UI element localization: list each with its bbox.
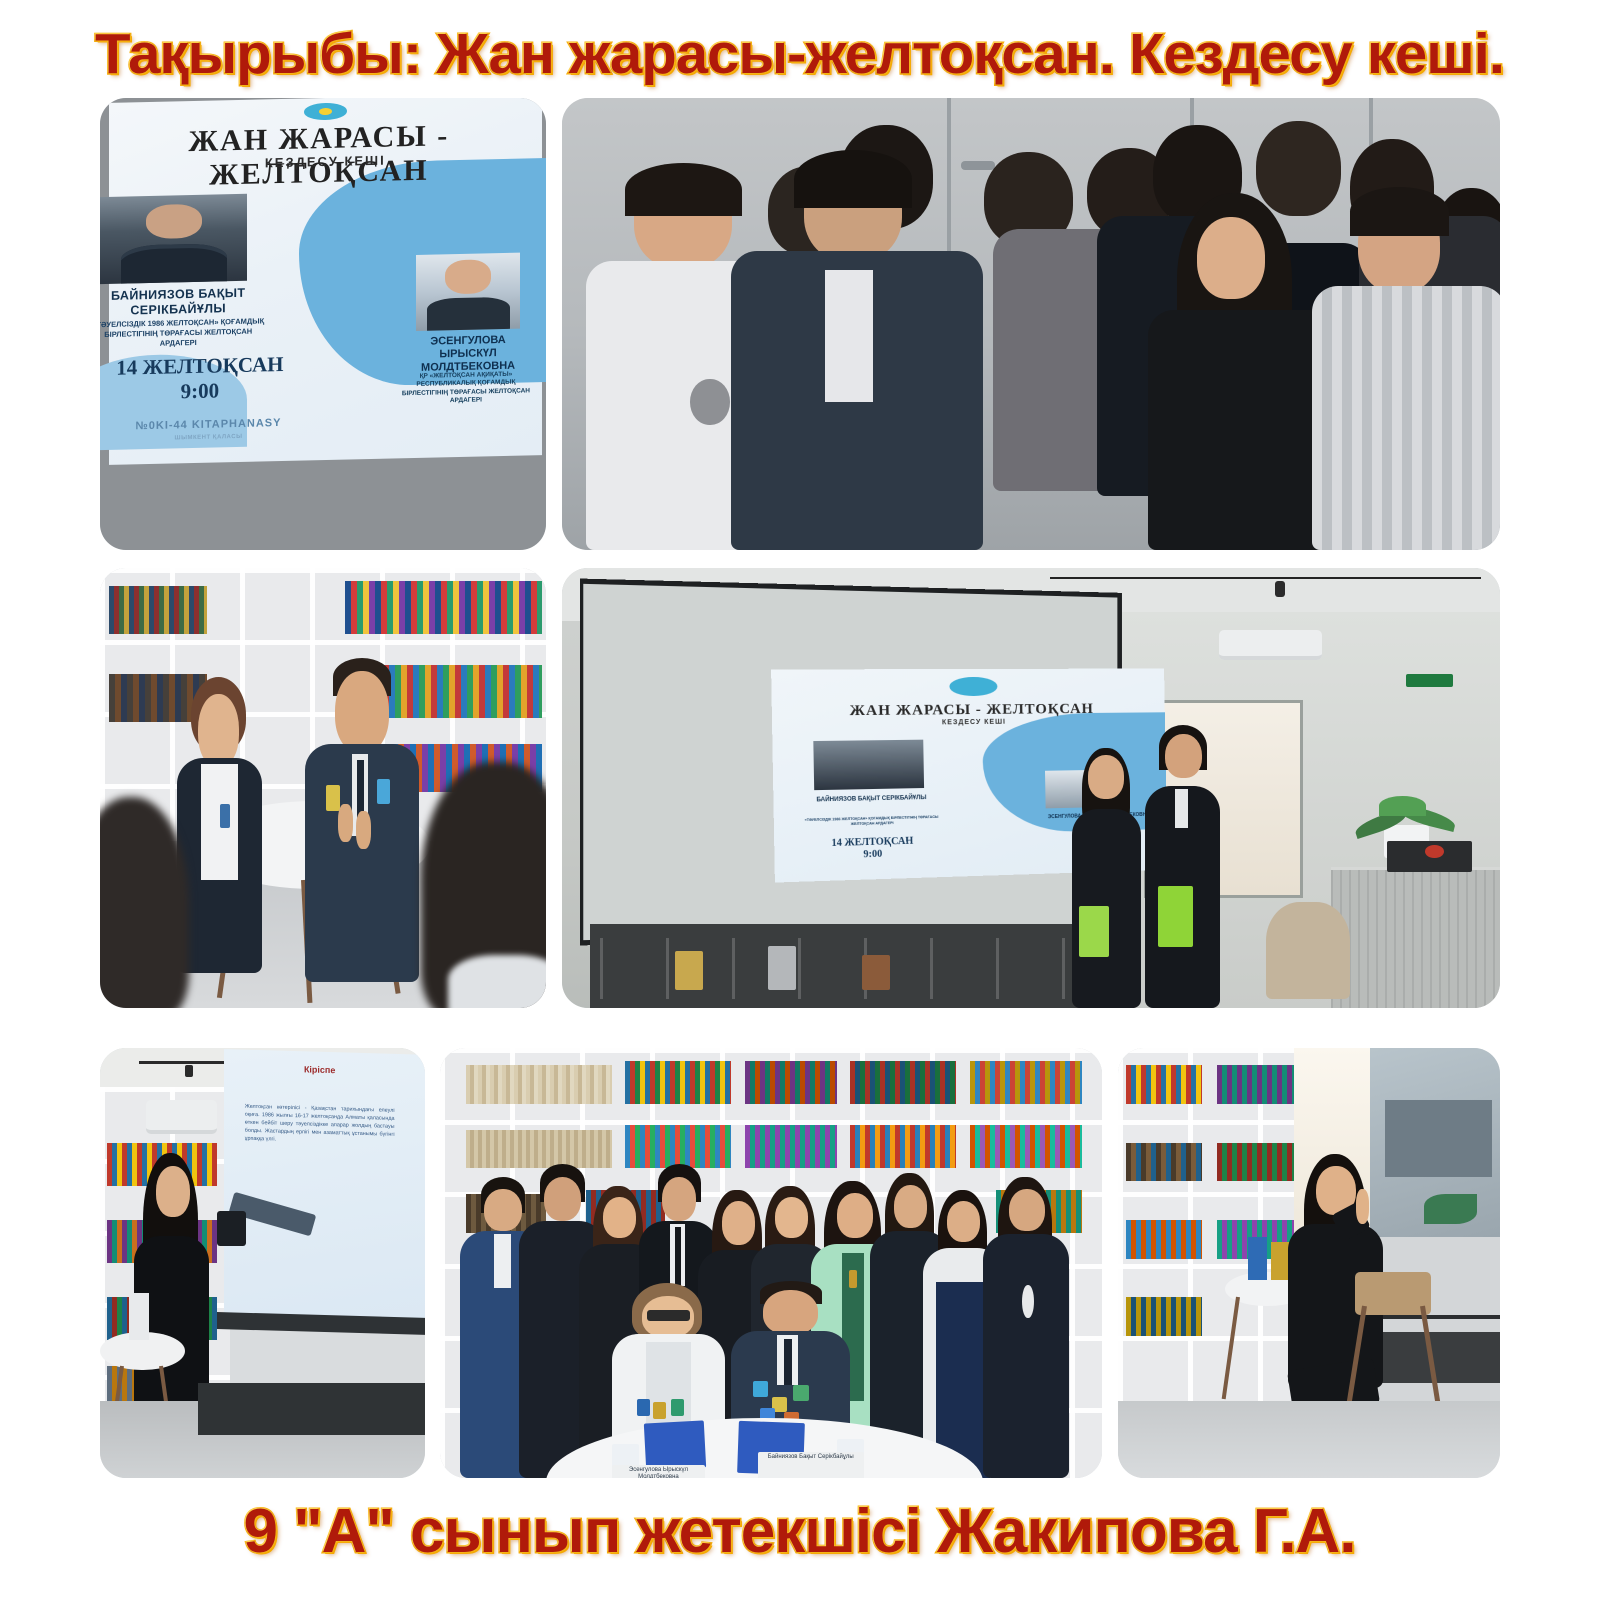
photo-presenter-at-screen: Кіріспе Желтоқсан көтерілісі - Қазақстан… bbox=[100, 1048, 425, 1478]
green-folder-icon bbox=[1079, 906, 1109, 957]
photo-speakers-at-table bbox=[100, 568, 546, 1008]
green-folder-icon bbox=[1158, 886, 1193, 947]
air-conditioner-icon bbox=[146, 1100, 218, 1134]
poster-speaker-left-name: БАЙНИЯЗОВ БАҚЫТ СЕРІКБАЙҰЛЫ bbox=[100, 285, 269, 319]
slide-heading: Кіріспе bbox=[244, 1063, 394, 1077]
poster-event-date: 14 ЖЕЛТОҚСАН 9:00 bbox=[100, 352, 299, 407]
photo-event-poster-slide: ЖАН ЖАРАСЫ - ЖЕЛТОҚСАН КЕЗДЕСУ КЕШІ БАЙН… bbox=[100, 98, 546, 550]
host-female bbox=[1069, 753, 1144, 1008]
photo-collage-poster: Тақырыбы: Жан жарасы-желтоқсан. Кездесу … bbox=[0, 0, 1599, 1599]
host-male bbox=[1144, 731, 1224, 1008]
poster-speaker-left-desc: «ТӘУЕЛСІЗДІК 1986 ЖЕЛТОҚСАН» ҚОҒАМДЫҚ БІ… bbox=[100, 316, 269, 350]
projected-slide-date: 14 ЖЕЛТОҚСАН9:00 bbox=[790, 835, 952, 864]
nameplate-right: Байниязов Бақыт Серікбайұлы bbox=[758, 1452, 864, 1478]
poster-speaker-right-portrait bbox=[416, 253, 520, 331]
projected-slide-speaker-left-desc: «ТӘУЕЛСІЗДІК 1986 ЖЕЛТОҚСАН» ҚОҒАМДЫҚ БІ… bbox=[798, 815, 944, 829]
photo-audience-students bbox=[562, 98, 1500, 550]
exit-sign-icon bbox=[1406, 674, 1453, 687]
poster-speaker-right-desc: ҚР «ЖЕЛТОҚСАН АҚИҚАТЫ» РЕСПУБЛИКАЛЫҚ ҚОҒ… bbox=[394, 370, 537, 407]
slide-body-text: Желтоқсан көтерілісі - Қазақстан тарихын… bbox=[244, 1103, 394, 1147]
poster-speaker-left-portrait bbox=[100, 194, 247, 284]
projected-slide-speaker-left-name: БАЙНИЯЗОВ БАҚЫТ СЕРІКБАЙҰЛЫ bbox=[798, 794, 944, 805]
nameplate-left: Эсенгулова Ырыскүл Молдтбековна bbox=[612, 1465, 705, 1478]
photo-hall-with-projection: ЖАН ЖАРАСЫ - ЖЕЛТОҚСАН КЕЗДЕСУ КЕШІ БАЙН… bbox=[562, 568, 1500, 1008]
air-conditioner-icon bbox=[1219, 630, 1322, 661]
page-title: Тақырыбы: Жан жарасы-желтоқсан. Кездесу … bbox=[0, 22, 1599, 86]
photo-group-photo: Эсенгулова Ырыскүл Молдтбековна Байниязо… bbox=[440, 1048, 1102, 1478]
footer-caption: 9 "А" сынып жетекшісі Жакипова Г.А. bbox=[0, 1496, 1599, 1568]
photo-seated-student-reading bbox=[1118, 1048, 1500, 1478]
kazakhstan-flag-emblem-icon bbox=[304, 103, 347, 121]
eyeglasses-icon bbox=[647, 1310, 690, 1321]
